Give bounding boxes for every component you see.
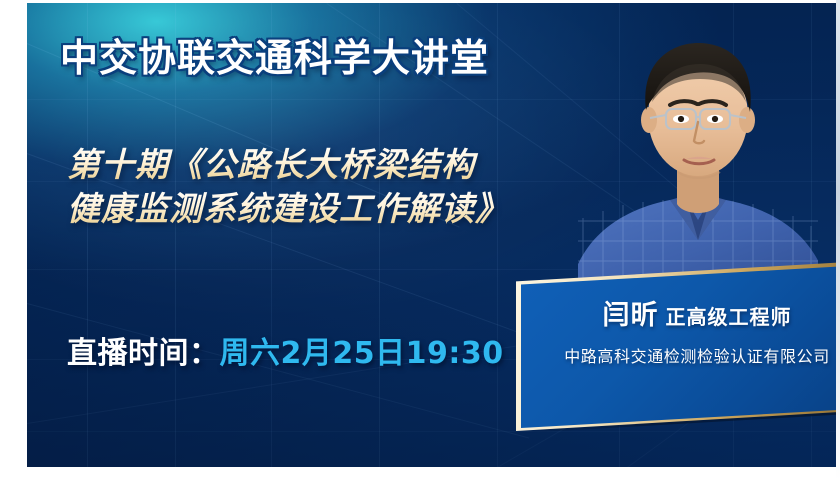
speaker-title: 正高级工程师 (666, 305, 792, 329)
speaker-name-row: 闫昕正高级工程师 (534, 293, 837, 332)
subtitle-line-2: 健康监测系统建设工作解读》 (67, 187, 597, 231)
panel-content: 闫昕正高级工程师 中路高科交通检测检验认证有限公司 (534, 293, 837, 367)
page-title: 中交协联交通科学大讲堂 (60, 27, 489, 82)
live-time-value: 周六2月25日19:30 (220, 336, 504, 371)
live-time-row: 直播时间：周六2月25日19:30 (67, 328, 504, 372)
subtitle-line-1: 第十期《公路长大桥梁结构 (67, 143, 597, 187)
program-subtitle: 第十期《公路长大桥梁结构 健康监测系统建设工作解读》 (67, 143, 597, 231)
speaker-info-panel: 闫昕正高级工程师 中路高科交通检测检验认证有限公司 (516, 261, 837, 436)
speaker-portrait-photo (578, 6, 818, 298)
live-time-label: 直播时间： (67, 336, 220, 371)
speaker-organization: 中路高科交通检测检验认证有限公司 (534, 343, 837, 367)
canvas-right-edge (836, 0, 840, 480)
poster-canvas: 中交协联交通科学大讲堂 第十期《公路长大桥梁结构 健康监测系统建设工作解读》 直… (0, 0, 840, 480)
live-stream-poster: 中交协联交通科学大讲堂 第十期《公路长大桥梁结构 健康监测系统建设工作解读》 直… (27, 3, 837, 467)
speaker-name: 闫昕 (603, 300, 659, 331)
